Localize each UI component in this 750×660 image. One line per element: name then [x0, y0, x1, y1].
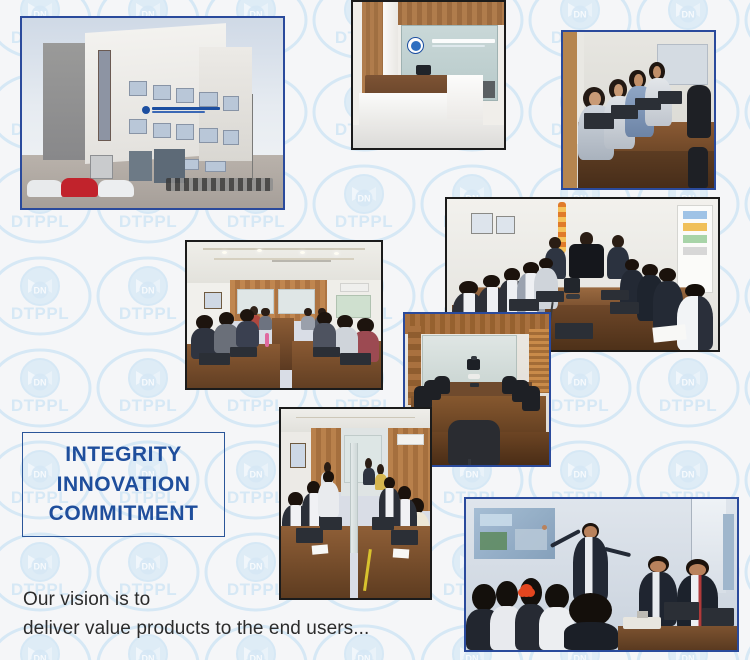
svg-text:DN: DN — [142, 562, 155, 572]
svg-text:DN: DN — [142, 286, 155, 296]
svg-text:DTPPL: DTPPL — [335, 212, 393, 231]
watermark-dtppl: DNDTPPL — [742, 0, 750, 68]
value-line-commitment: COMMITMENT — [49, 499, 199, 529]
watermark-dtppl: DNDTPPL — [742, 68, 750, 160]
presenter-figure — [572, 523, 610, 602]
svg-text:DTPPL: DTPPL — [11, 212, 69, 231]
svg-text:DN: DN — [682, 654, 695, 660]
building-signage — [142, 104, 220, 115]
svg-text:DTPPL: DTPPL — [659, 396, 717, 415]
photo-reception-desk — [351, 0, 506, 150]
svg-text:DTPPL: DTPPL — [551, 396, 609, 415]
photo-company-building — [20, 16, 285, 210]
watermark-dtppl: DNDTPPL — [0, 344, 94, 436]
photo-workstation-row — [561, 30, 716, 190]
svg-text:DTPPL: DTPPL — [11, 396, 69, 415]
svg-text:DTPPL: DTPPL — [227, 396, 285, 415]
watermark-dtppl: DNDTPPL — [742, 252, 750, 344]
watermark-dtppl: DNDTPPL — [0, 252, 94, 344]
svg-text:DTPPL: DTPPL — [119, 212, 177, 231]
svg-text:DN: DN — [682, 10, 695, 20]
photo-collage: DNDTPPLDNDTPPLDNDTPPLDNDTPPLDNDTPPLDNDTP… — [0, 0, 750, 660]
watermark-dtppl: DNDTPPL — [310, 160, 418, 252]
svg-text:DN: DN — [574, 378, 587, 388]
vision-values-box: INTEGRITY INNOVATION COMMITMENT — [22, 432, 225, 537]
vision-line-2: deliver value products to the end users.… — [23, 614, 369, 643]
svg-text:DTPPL: DTPPL — [119, 304, 177, 323]
svg-text:DN: DN — [34, 654, 47, 660]
watermark-dtppl: DNDTPPL — [742, 436, 750, 528]
svg-text:DTPPL: DTPPL — [119, 396, 177, 415]
value-line-innovation: INNOVATION — [57, 470, 191, 500]
hair-flower-ornament — [520, 584, 533, 597]
vision-statement: Our vision is to deliver value products … — [23, 585, 369, 644]
vision-line-1: Our vision is to — [23, 585, 369, 614]
watermark-dtppl: DNDTPPL — [742, 344, 750, 436]
svg-text:DN: DN — [466, 470, 479, 480]
photo-training-presentation — [464, 497, 739, 652]
svg-text:DN: DN — [682, 378, 695, 388]
svg-text:DN: DN — [574, 654, 587, 660]
svg-text:DTPPL: DTPPL — [227, 488, 285, 507]
svg-text:DN: DN — [250, 562, 263, 572]
svg-text:DTPPL: DTPPL — [11, 304, 69, 323]
watermark-dtppl: DNDTPPL — [742, 620, 750, 660]
svg-text:DN: DN — [358, 194, 371, 204]
svg-text:DN: DN — [358, 654, 371, 660]
photo-office-aisle — [279, 407, 432, 600]
svg-text:DN: DN — [250, 654, 263, 660]
photo-open-office — [185, 240, 383, 390]
svg-text:DN: DN — [574, 470, 587, 480]
watermark-dtppl: DNDTPPL — [742, 160, 750, 252]
svg-text:DTPPL: DTPPL — [227, 212, 285, 231]
svg-text:DN: DN — [250, 470, 263, 480]
reception-signage — [432, 39, 495, 47]
watermark-dtppl: DNDTPPL — [742, 528, 750, 620]
svg-text:DN: DN — [574, 10, 587, 20]
value-line-integrity: INTEGRITY — [65, 440, 182, 470]
svg-text:DN: DN — [142, 654, 155, 660]
svg-text:DN: DN — [34, 286, 47, 296]
svg-text:DN: DN — [466, 654, 479, 660]
watermark-dtppl: DNDTPPL — [634, 344, 742, 436]
svg-text:DN: DN — [34, 378, 47, 388]
svg-text:DN: DN — [682, 470, 695, 480]
svg-text:DN: DN — [142, 378, 155, 388]
svg-text:DN: DN — [34, 562, 47, 572]
